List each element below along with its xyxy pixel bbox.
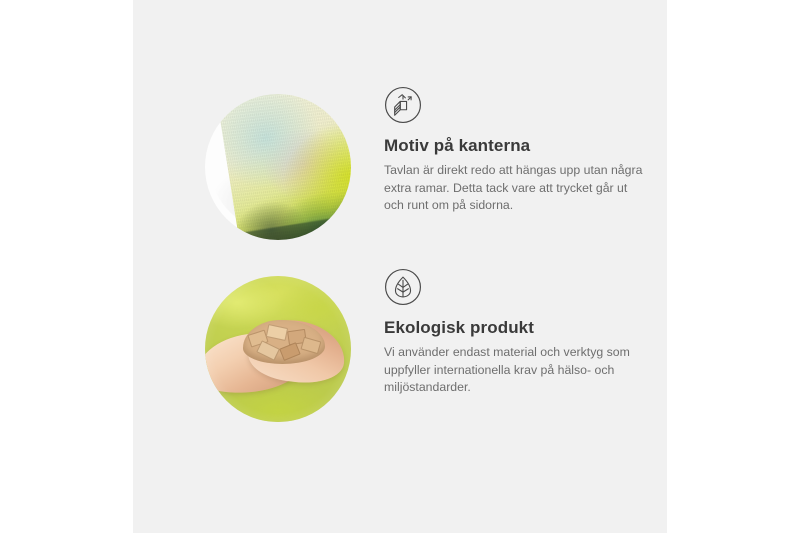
- feature-body: Vi använder endast material och verktyg …: [384, 344, 646, 397]
- canvas-block: [217, 94, 351, 240]
- feature-title: Ekologisk produkt: [384, 318, 654, 339]
- content-panel: Motiv på kanterna Tavlan är direkt redo …: [133, 0, 667, 533]
- feature-body: Tavlan är direkt redo att hängas upp uta…: [384, 162, 646, 215]
- feature-content: Motiv på kanterna Tavlan är direkt redo …: [384, 86, 654, 215]
- feature-title: Motiv på kanterna: [384, 136, 654, 157]
- product-feature-graphic: Motiv på kanterna Tavlan är direkt redo …: [0, 0, 800, 533]
- leaf-icon: [384, 268, 422, 306]
- wood-chip: [266, 324, 288, 340]
- feature-content: Ekologisk produkt Vi använder endast mat…: [384, 268, 654, 397]
- canvas-wrapped-edges-icon: [384, 86, 422, 124]
- hands-holding-wood-chips-photo: [205, 276, 351, 422]
- feature-row: Ekologisk produkt Vi använder endast mat…: [133, 268, 667, 438]
- wood-chip: [256, 341, 280, 362]
- feature-row: Motiv på kanterna Tavlan är direkt redo …: [133, 86, 667, 256]
- wood-chip: [279, 342, 301, 361]
- canvas-print-corner-photo: [205, 94, 351, 240]
- wood-chip: [300, 337, 321, 354]
